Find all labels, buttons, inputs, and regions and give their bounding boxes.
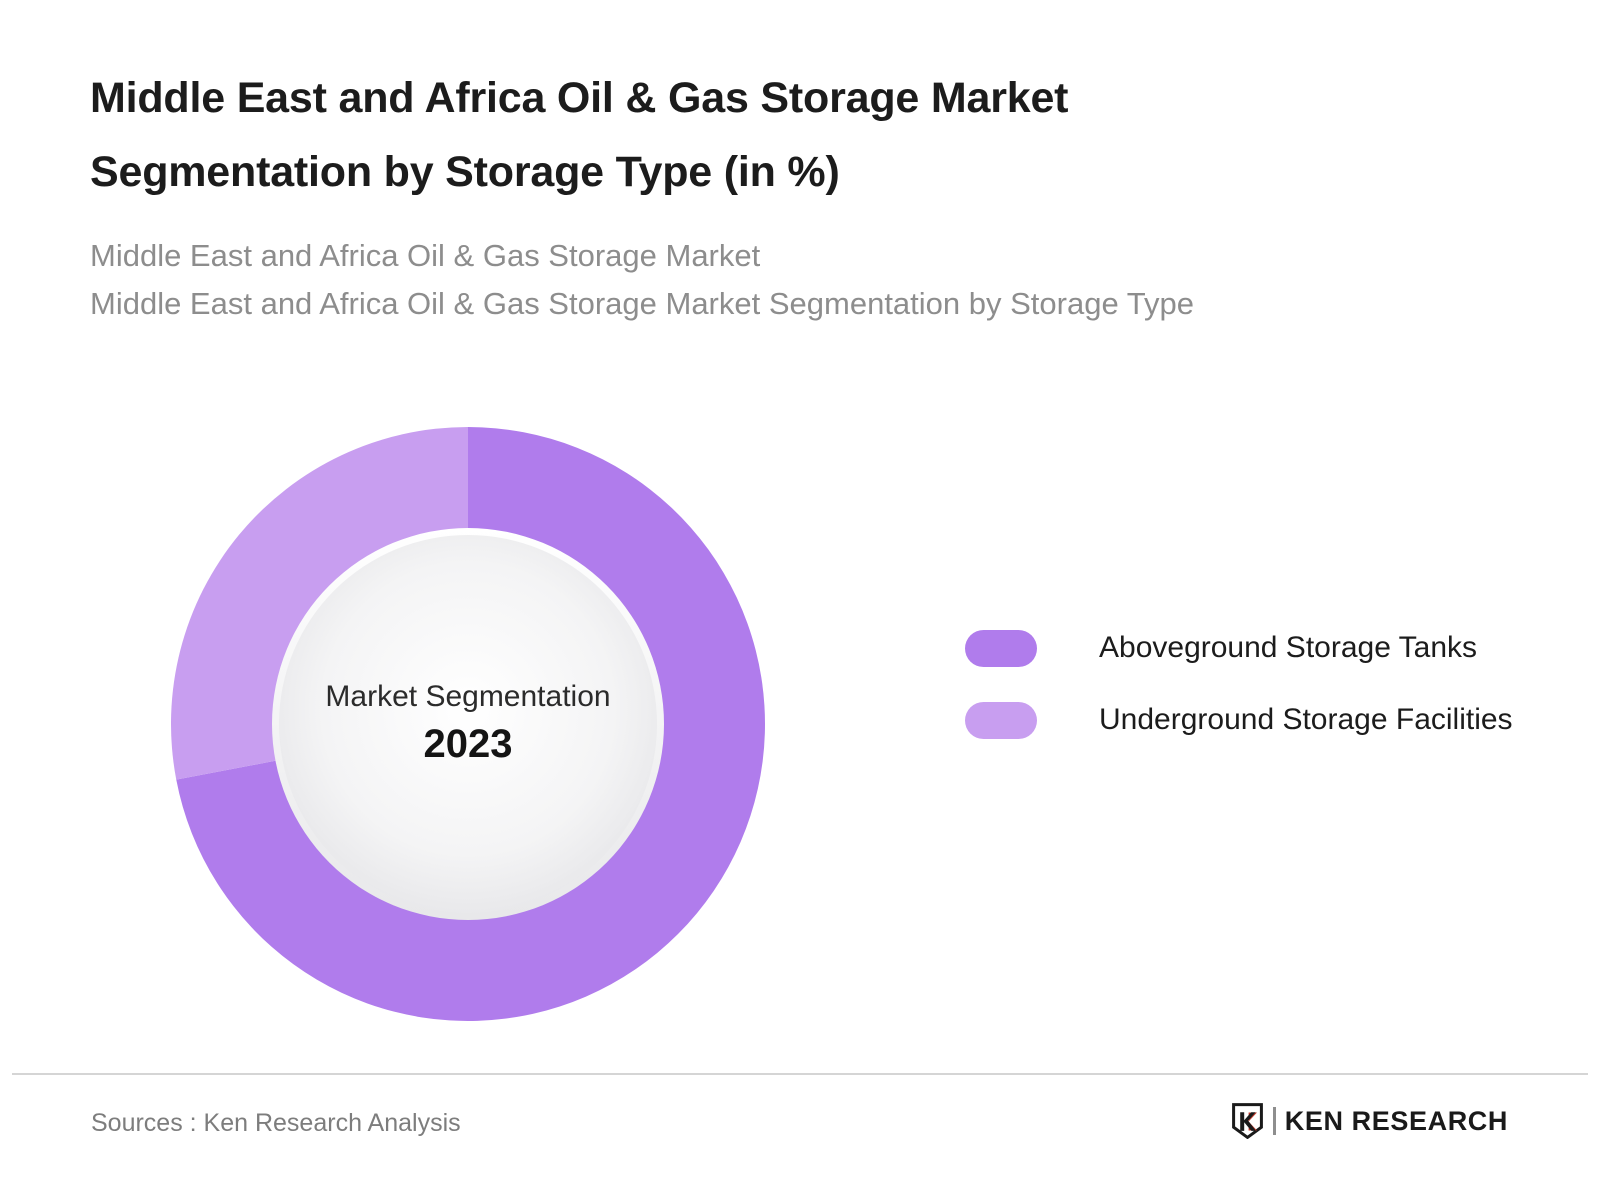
- logo-text: KEN RESEARCH: [1285, 1106, 1508, 1137]
- legend-swatch-icon: [965, 630, 1037, 667]
- chart-legend: Aboveground Storage Tanks Underground St…: [965, 612, 1565, 756]
- donut-hole: [279, 535, 657, 913]
- ken-research-logo: KEN RESEARCH: [1232, 1101, 1508, 1141]
- chart-footer: Sources : Ken Research Analysis KEN RESE…: [0, 1073, 1600, 1200]
- legend-swatch-icon: [965, 702, 1037, 739]
- donut-chart[interactable]: Market Segmentation 2023: [171, 427, 765, 1021]
- legend-label: Aboveground Storage Tanks: [1099, 631, 1477, 665]
- chart-area: Market Segmentation 2023 Aboveground Sto…: [0, 0, 1600, 1060]
- legend-item-aboveground-storage-tanks[interactable]: Aboveground Storage Tanks: [965, 612, 1565, 684]
- legend-label: Underground Storage Facilities: [1099, 703, 1513, 737]
- ken-research-shield-icon: [1232, 1103, 1263, 1139]
- source-note: Sources : Ken Research Analysis: [91, 1109, 461, 1138]
- logo-divider-icon: [1273, 1107, 1276, 1135]
- legend-item-underground-storage-facilities[interactable]: Underground Storage Facilities: [965, 684, 1565, 756]
- chart-page: Middle East and Africa Oil & Gas Storage…: [0, 0, 1600, 1200]
- donut-svg: [171, 427, 765, 1021]
